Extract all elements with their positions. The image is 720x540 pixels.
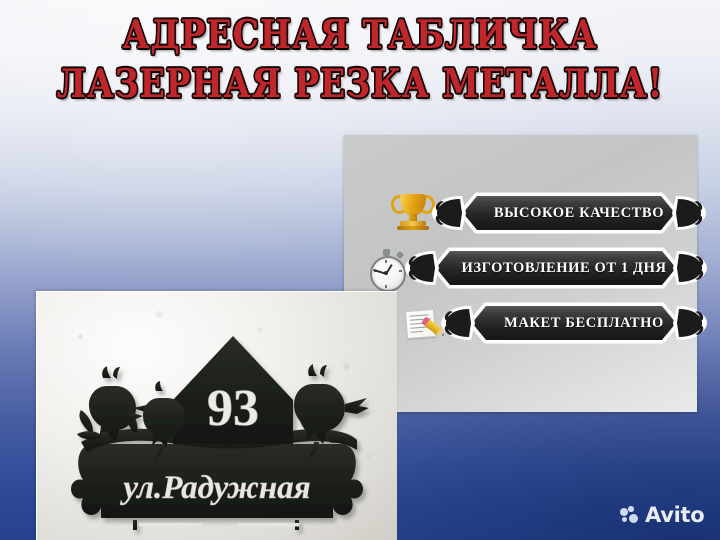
plaque-finial-left-3 — [441, 302, 485, 344]
feature-plaque-leadtime: ИЗГОТОВЛЕНИЕ ОТ 1 ДНЯ — [416, 248, 696, 288]
title-line-1: АДРЕСНАЯ ТАБЛИЧКА — [0, 15, 720, 54]
avito-wordmark: Avito — [645, 503, 704, 527]
avito-watermark: Avito — [620, 503, 704, 527]
stopwatch-crown — [383, 249, 390, 256]
feature-plaque-quality: ВЫСОКОЕ КАЧЕСТВО — [443, 193, 695, 233]
stopwatch-face — [370, 256, 406, 292]
avito-dots-logo — [620, 506, 640, 524]
plaque-shape-3 — [452, 303, 696, 343]
title-line-2: ЛАЗЕРНАЯ РЕЗКА МЕТАЛЛА! — [0, 64, 720, 103]
stopwatch-icon — [368, 249, 408, 291]
plaque-finial-left-1 — [432, 192, 476, 234]
mount-slot-left — [139, 523, 201, 527]
mount-slot-right — [237, 523, 299, 527]
plaque-shape-2 — [416, 248, 696, 288]
plaque-finial-right-3 — [663, 302, 707, 344]
house-number: 93 — [207, 380, 259, 437]
trophy-icon — [392, 192, 434, 232]
address-sign-artwork: 93 ул.Радужная — [37, 292, 397, 540]
street-name: ул.Радужная — [119, 470, 310, 506]
ad-image-canvas: АДРЕСНАЯ ТАБЛИЧКА ЛАЗЕРНАЯ РЕЗКА МЕТАЛЛА… — [0, 0, 720, 540]
plaque-finial-right-1 — [662, 192, 706, 234]
trophy-foot — [397, 226, 429, 230]
plaque-finial-left-2 — [405, 247, 449, 289]
plaque-finial-right-2 — [663, 247, 707, 289]
plaque-shape-1 — [443, 193, 695, 233]
page-title: АДРЕСНАЯ ТАБЛИЧКА ЛАЗЕРНАЯ РЕЗКА МЕТАЛЛА… — [0, 18, 720, 100]
product-photo: 93 ул.Радужная — [36, 291, 397, 540]
stopwatch-pin — [384, 271, 388, 275]
feature-plaque-freelayout: МАКЕТ БЕСПЛАТНО — [452, 303, 696, 343]
